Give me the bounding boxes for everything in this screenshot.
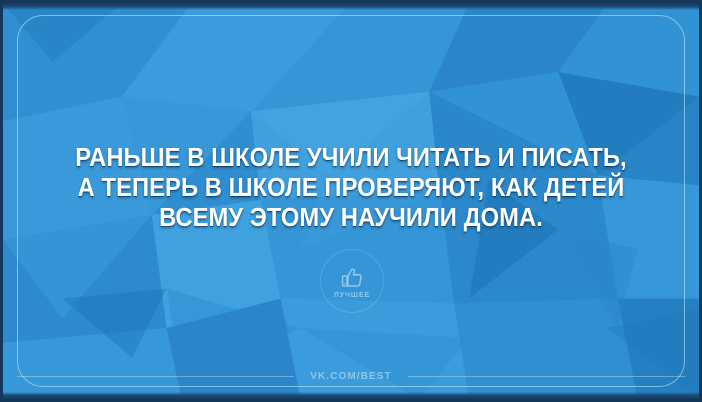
quote-text-block: РАНЬШЕ В ШКОЛЕ УЧИЛИ ЧИТАТЬ И ПИСАТЬ, А … <box>3 143 699 233</box>
footer-watermark: VK.COM/BEST <box>17 371 685 382</box>
quote-card: РАНЬШЕ В ШКОЛЕ УЧИЛИ ЧИТАТЬ И ПИСАТЬ, А … <box>0 0 702 402</box>
quote-line-2: А ТЕПЕРЬ В ШКОЛЕ ПРОВЕРЯЮТ, КАК ДЕТЕЙ <box>44 173 658 203</box>
footer-rule-right <box>408 376 685 377</box>
quote-line-1: РАНЬШЕ В ШКОЛЕ УЧИЛИ ЧИТАТЬ И ПИСАТЬ, <box>44 143 658 173</box>
quote-line-3: ВСЕМУ ЭТОМУ НАУЧИЛИ ДОМА. <box>44 203 658 233</box>
best-watermark-badge: ЛУЧШЕЕ <box>320 249 384 313</box>
thumbs-up-icon <box>339 265 365 291</box>
footer-url-text: VK.COM/BEST <box>294 371 408 382</box>
footer-rule-left <box>17 376 294 377</box>
best-watermark-label: ЛУЧШЕЕ <box>334 292 371 299</box>
